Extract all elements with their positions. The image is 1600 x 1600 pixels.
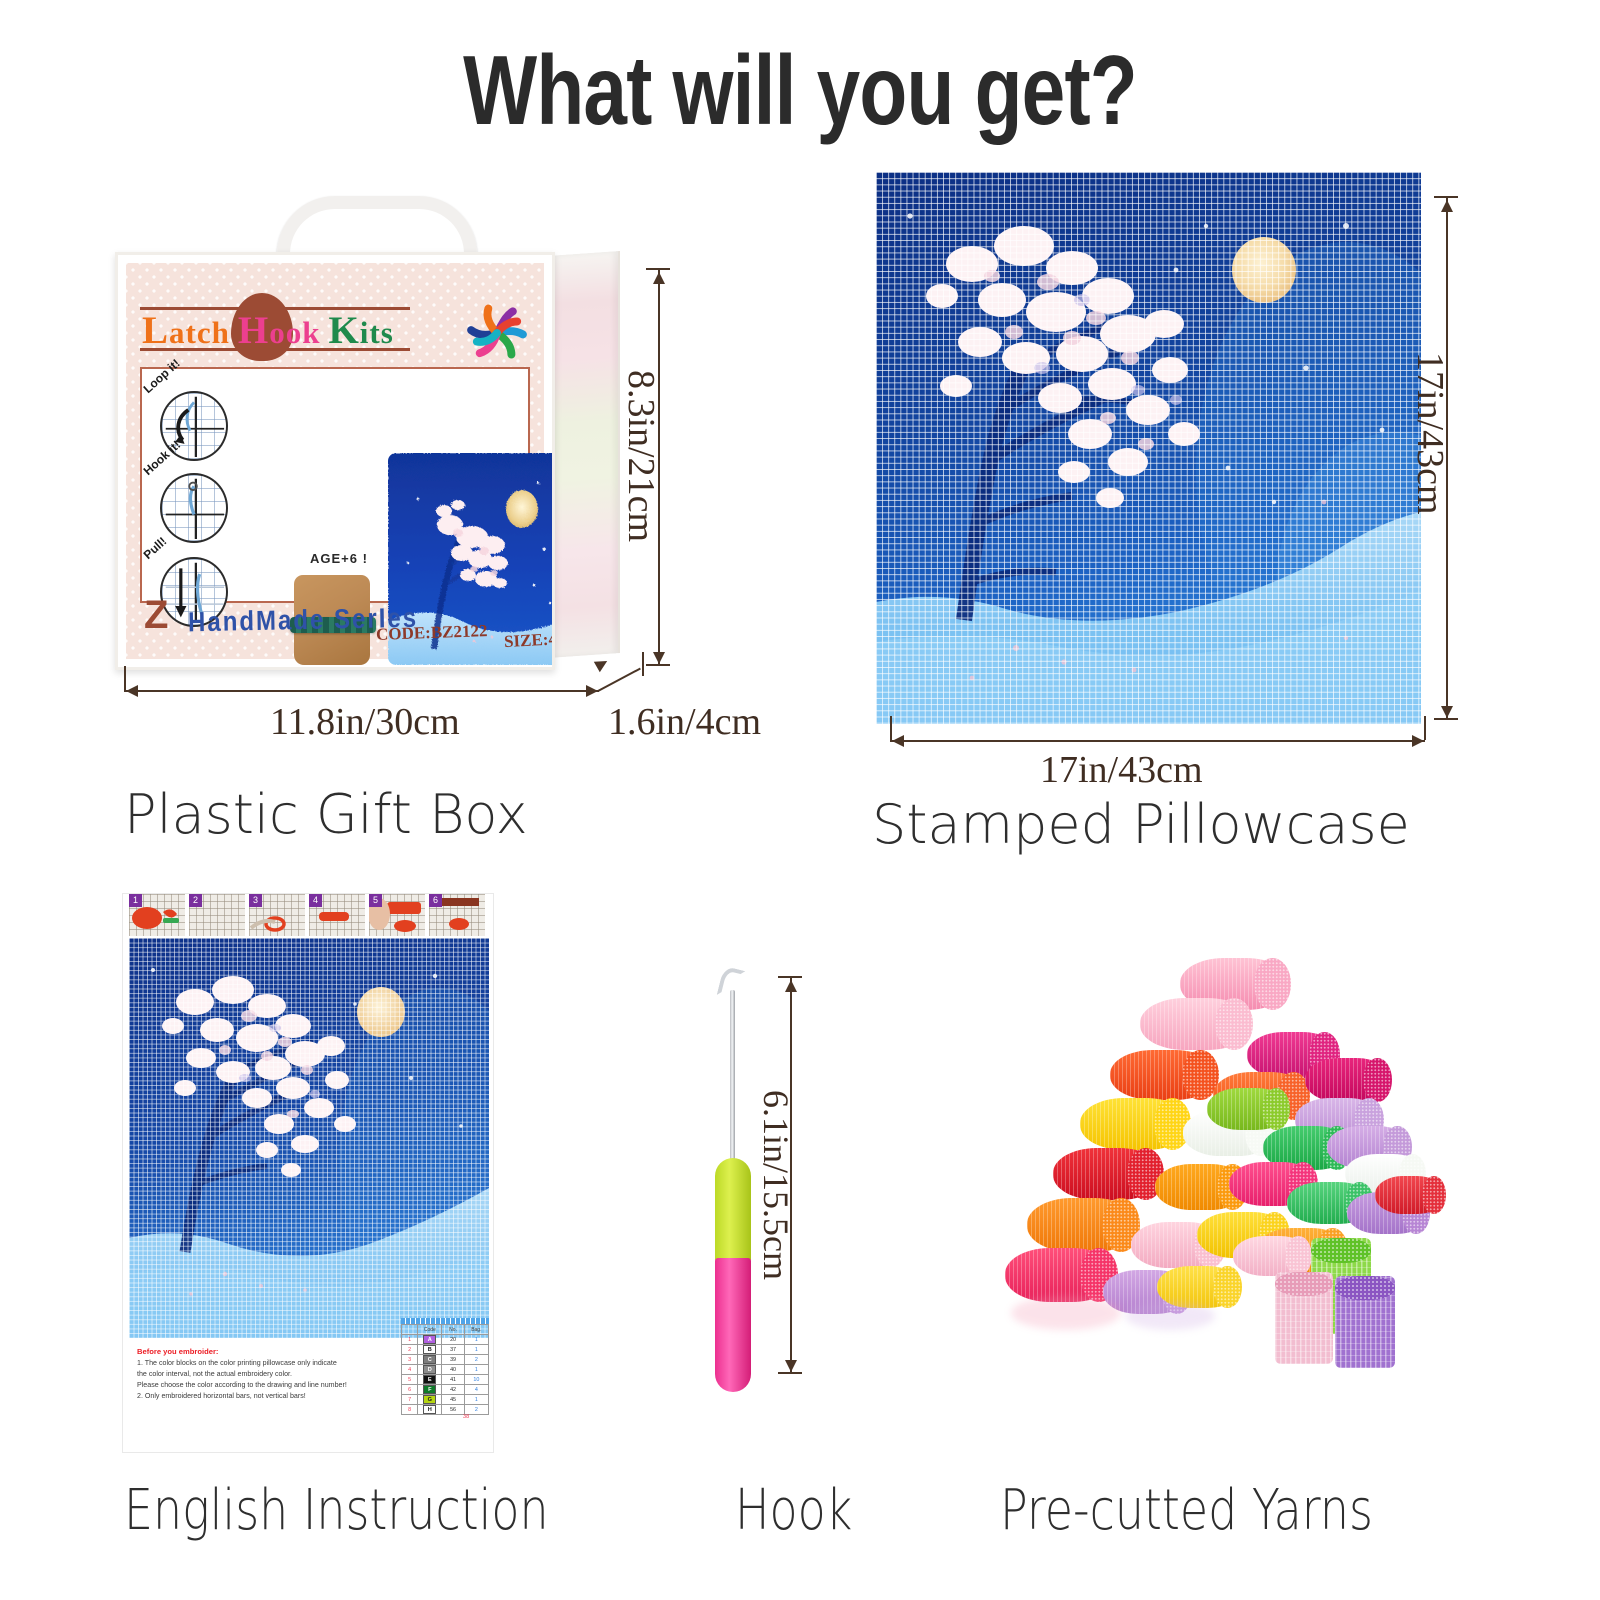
code-chip: C (423, 1355, 436, 1364)
pillowcase-height-tick-top (1434, 196, 1458, 198)
yarn-bundle (1207, 1088, 1289, 1130)
notice-heading: Before you embroider: (137, 1346, 387, 1357)
row-no: 42 (442, 1385, 464, 1395)
row-code-cell: G (418, 1395, 442, 1405)
pre-cutted-yarns-image (975, 940, 1445, 1390)
row-bag: 2 (464, 1355, 488, 1365)
gift-box-polkadot-background: Latch Hook Kits (126, 263, 544, 659)
giftbox-depth-tick (642, 652, 644, 676)
code-chip: F (423, 1385, 436, 1394)
pillowcase-height-tick-bottom (1434, 718, 1458, 720)
yarn-reflection (1011, 1296, 1121, 1330)
brand-word-hook: Hook (238, 308, 321, 353)
hook-length-tick-top (778, 976, 802, 978)
brand-word-latch: Latch (142, 308, 230, 353)
pillowcase-width-arrow-left (892, 735, 904, 747)
caption-english-instruction: English Instruction (124, 1478, 549, 1543)
row-bag: 10 (464, 1375, 488, 1385)
pillowcase-width-tick-right (1424, 716, 1426, 740)
page-title: What will you get? (160, 34, 1440, 147)
col-index (402, 1325, 418, 1335)
row-no: 56 (442, 1405, 464, 1415)
instruction-step-thumbnails: 1 2 3 4 (129, 894, 489, 936)
instruction-thumb-1: 1 (129, 894, 185, 936)
hook-handle-lower (715, 1258, 751, 1392)
yarn-bundle (1053, 1148, 1163, 1200)
row-index: 8 (402, 1405, 418, 1415)
notice-line-3: Please choose the color according to the… (137, 1381, 347, 1389)
gift-box-footer: Z HandMade SerIes CODE:BZ2122 SIZE:43X43… (126, 601, 544, 653)
row-bag: 1 (464, 1395, 488, 1405)
row-index: 7 (402, 1395, 418, 1405)
instruction-thumb-3: 3 (249, 894, 305, 936)
code-chip: H (423, 1405, 436, 1414)
step-diagram-hook-it: Hook it! (156, 465, 230, 543)
code-chip: G (423, 1395, 436, 1404)
table-row: 8 H 56 2 (402, 1405, 489, 1415)
giftbox-width-arrow-right (586, 685, 598, 697)
instruction-thumb-2: 2 (189, 894, 245, 936)
code-chip: E (423, 1375, 436, 1384)
hook-length-label: 6.1in/15.5cm (755, 1090, 797, 1280)
yarn-bundle (1080, 1098, 1190, 1150)
caption-pre-cutted-yarns: Pre-cutted Yarns (1000, 1478, 1373, 1543)
table-header-row: Code No. Bag. (402, 1325, 489, 1335)
row-code-cell: A (418, 1335, 442, 1345)
hook-length-arrow-down (785, 1360, 797, 1372)
row-code-cell: D (418, 1365, 442, 1375)
notice-line-4: 2. Only embroidered horizontal bars, not… (137, 1392, 306, 1400)
row-bag: 1 (464, 1335, 488, 1345)
gift-box-handle (277, 196, 477, 254)
hook-handle-upper (715, 1158, 751, 1262)
row-code-cell: E (418, 1375, 442, 1385)
row-no: 20 (442, 1335, 464, 1345)
giftbox-height-arrow-up (653, 272, 665, 284)
row-bag: 1 (464, 1345, 488, 1355)
color-table-total: 38 (463, 1414, 469, 1420)
yarn-mesh-bundle-pink (1275, 1272, 1333, 1364)
hook-needle-shaft (730, 990, 735, 1165)
yarn-reflection (1125, 1302, 1215, 1330)
row-code-cell: B (418, 1345, 442, 1355)
row-index: 3 (402, 1355, 418, 1365)
thumb-badge-1: 1 (129, 894, 142, 907)
giftbox-depth-label: 1.6in/4cm (608, 700, 761, 744)
row-no: 45 (442, 1395, 464, 1405)
row-no: 40 (442, 1365, 464, 1375)
pillowcase-width-label: 17in/43cm (1040, 748, 1203, 792)
age-recommendation-label: AGE+6 ! (310, 551, 368, 566)
caption-gift-box: Plastic Gift Box (124, 783, 528, 846)
stamped-pillowcase-image (876, 172, 1421, 724)
giftbox-width-arrow-left (126, 685, 138, 697)
pinwheel-logo-icon (461, 297, 533, 369)
pillowcase-printed-artwork (876, 172, 1421, 724)
code-chip: D (423, 1365, 436, 1374)
table-row: 5 E 41 10 (402, 1375, 489, 1385)
row-index: 4 (402, 1365, 418, 1375)
row-index: 1 (402, 1335, 418, 1345)
row-no: 41 (442, 1375, 464, 1385)
gift-box-art-panel: Loop it! Hook it! (140, 367, 530, 603)
row-bag: 4 (464, 1385, 488, 1395)
yarn-bundle (1375, 1176, 1445, 1214)
caption-stamped-pillowcase: Stamped Pillowcase (872, 793, 1410, 856)
code-chip: A (423, 1335, 436, 1344)
yarn-bundle (1005, 1248, 1117, 1302)
hook-length-tick-bottom (778, 1372, 802, 1374)
pillowcase-width-arrow-right (1412, 735, 1424, 747)
gift-box-brand-title: Latch Hook Kits (142, 307, 442, 353)
giftbox-height-arrow-down (653, 652, 665, 664)
brand-word-kits: Kits (328, 308, 393, 353)
zigzag-ornament-icon: Z (144, 595, 178, 635)
yarn-bundle (1140, 998, 1252, 1050)
instruction-thumb-6: 6 (429, 894, 485, 936)
col-bag: Bag. (464, 1325, 488, 1335)
table-row: 7 G 45 1 (402, 1395, 489, 1405)
gift-box-side-panel (548, 251, 620, 658)
thumb-badge-4: 4 (309, 894, 322, 907)
instruction-artwork-svg (129, 938, 489, 1338)
instruction-chart-artwork (129, 938, 489, 1338)
step-circle-hook (160, 473, 228, 543)
yarn-bundle (1305, 1058, 1391, 1102)
instruction-notice-text: Before you embroider: 1. The color block… (137, 1346, 387, 1402)
pillowcase-height-arrow-up (1441, 200, 1453, 212)
row-code-cell: C (418, 1355, 442, 1365)
table-row: 4 D 40 1 (402, 1365, 489, 1375)
row-bag: 1 (464, 1365, 488, 1375)
thumb-badge-5: 5 (369, 894, 382, 907)
caption-hook: Hook (735, 1478, 852, 1543)
yarn-bundle (1233, 1236, 1311, 1276)
yarn-bundle (1027, 1198, 1139, 1252)
thumb-badge-3: 3 (249, 894, 262, 907)
product-size-label: SIZE:43X43CM (504, 626, 555, 652)
table-row: 3 C 39 2 (402, 1355, 489, 1365)
row-index: 6 (402, 1385, 418, 1395)
yarn-mesh-bundle-purple (1335, 1276, 1395, 1368)
english-instruction-sheet: 1 2 3 4 (122, 893, 494, 1453)
table-row: 1 A 20 1 (402, 1335, 489, 1345)
table-row: 6 F 42 4 (402, 1385, 489, 1395)
row-no: 37 (442, 1345, 464, 1355)
row-index: 2 (402, 1345, 418, 1355)
col-code: Code (418, 1325, 442, 1335)
product-code-label: CODE:BZ2122 (376, 621, 488, 645)
giftbox-height-tick-bottom (646, 664, 670, 666)
row-code-cell: F (418, 1385, 442, 1395)
step-label-loop: Loop it! (141, 356, 183, 396)
giftbox-width-label: 11.8in/30cm (270, 700, 460, 744)
gift-box-product-image: Latch Hook Kits (105, 196, 665, 686)
col-no: No. (442, 1325, 464, 1335)
row-no: 39 (442, 1355, 464, 1365)
notice-line-2: the color interval, not the actual embro… (137, 1370, 292, 1378)
giftbox-height-tick-top (646, 268, 670, 270)
gift-box-front-face: Latch Hook Kits (115, 252, 555, 670)
notice-line-1: 1. The color blocks on the color printin… (137, 1359, 337, 1367)
color-code-table: Code No. Bag. 1 A 20 1 2 B 37 1 3 C 39 2 (401, 1324, 489, 1415)
giftbox-height-label: 8.3in/21cm (619, 370, 663, 542)
instruction-thumb-5: 5 (369, 894, 425, 936)
row-bag: 2 (464, 1405, 488, 1415)
code-chip: B (423, 1345, 436, 1354)
row-code-cell: H (418, 1405, 442, 1415)
pillowcase-height-label: 17in/43cm (1408, 352, 1452, 515)
instruction-thumb-4: 4 (309, 894, 365, 936)
table-row: 2 B 37 1 (402, 1345, 489, 1355)
thumb-badge-6: 6 (429, 894, 442, 907)
yarn-bundle (1110, 1050, 1218, 1100)
row-index: 5 (402, 1375, 418, 1385)
pillowcase-height-arrow-down (1441, 706, 1453, 718)
giftbox-width-dim-line (124, 690, 599, 692)
pillowcase-width-dim-line (890, 740, 1425, 742)
infographic-page: What will you get? Latch Hook Kits (0, 0, 1600, 1600)
thumb-badge-2: 2 (189, 894, 202, 907)
hook-length-arrow-up (785, 980, 797, 992)
